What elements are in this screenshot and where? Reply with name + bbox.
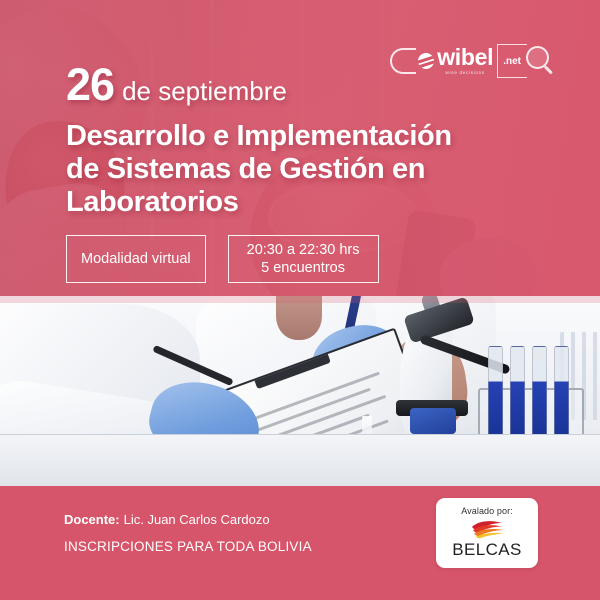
modality-badge: Modalidad virtual [66,235,206,283]
flame-icon [470,519,504,539]
hero-content: 26 de septiembre Desarrollo e Implementa… [66,62,536,283]
event-date-number: 26 [66,62,114,107]
teacher-row: Docente:Lic. Juan Carlos Cardozo [64,512,312,528]
endorsement-organization: BELCAS [452,540,522,560]
title-line-1: Desarrollo e Implementación [66,120,536,153]
modality-badge-label: Modalidad virtual [81,251,191,267]
teacher-label: Docente: [64,512,120,527]
endorsement-prefix: Avalado por: [461,506,513,516]
photo-band-top-edge [0,296,600,303]
title-line-2: de Sistemas de Gestión en [66,153,536,186]
schedule-badge-hours: 20:30 a 22:30 hrs [247,241,360,259]
schedule-badge-sessions: 5 encuentros [247,259,360,277]
footer-text-block: Docente:Lic. Juan Carlos Cardozo INSCRIP… [64,512,312,554]
title-line-3: Laboratorios [66,186,536,219]
hero-section: wibel wise decisions .net 26 de septiemb… [0,0,600,296]
laboratory-photo-band [0,296,600,486]
promo-poster: wibel wise decisions .net 26 de septiemb… [0,0,600,600]
microscope-specimen [410,408,456,434]
page-title: Desarrollo e Implementación de Sistemas … [66,120,536,219]
enrollment-notice: INSCRIPCIONES PARA TODA BOLIVIA [64,539,312,554]
event-date-month: de septiembre [122,78,287,104]
teacher-name: Lic. Juan Carlos Cardozo [124,512,270,527]
endorsement-badge: Avalado por: BELCAS [436,498,538,568]
lab-countertop [0,434,600,486]
schedule-badge: 20:30 a 22:30 hrs 5 encuentros [228,235,379,283]
event-date: 26 de septiembre [66,62,536,107]
hero-badges: Modalidad virtual 20:30 a 22:30 hrs 5 en… [66,235,536,283]
